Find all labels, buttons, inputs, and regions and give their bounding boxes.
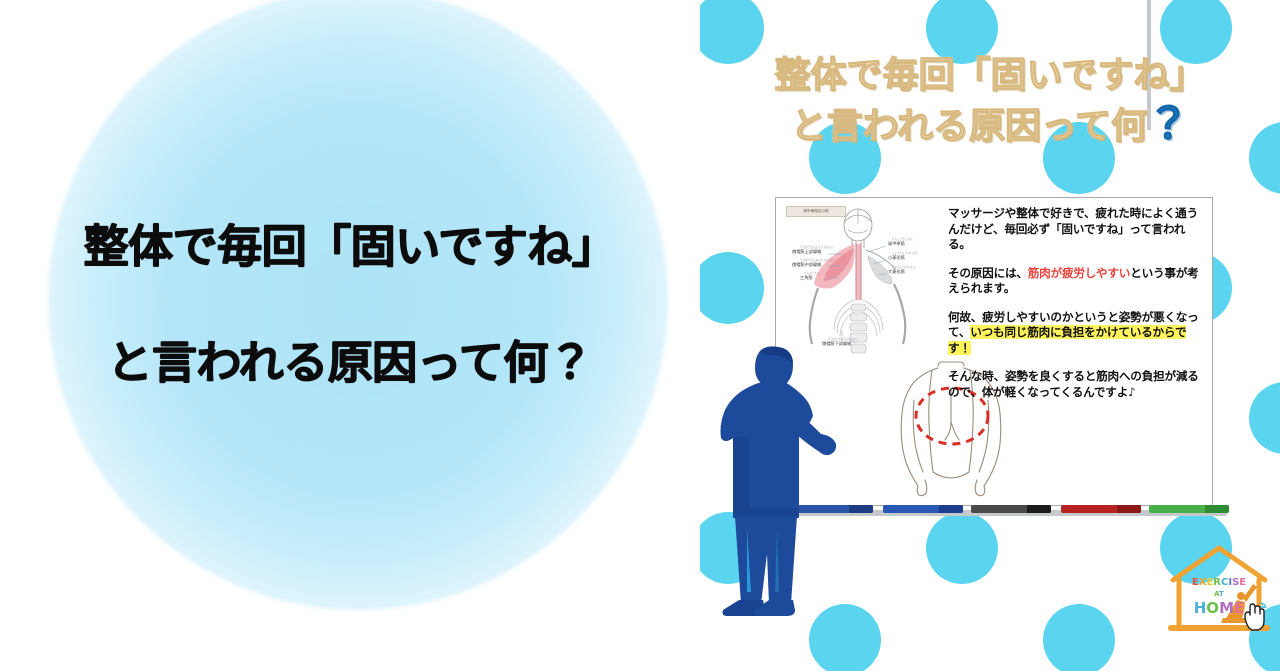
anatomy-label-0-main: 僧帽筋上部線維 (792, 249, 821, 255)
blue-marker-1-cap (849, 505, 873, 513)
left-headline-line-2: と言われる原因って何？ (0, 338, 700, 388)
wb-p2-run-2-highlight: 筋肉が疲労しやすい (1028, 266, 1130, 280)
anatomy-label-5-main: 大菱形筋 (888, 269, 905, 275)
whiteboard-paragraph-2: その原因には、筋肉が疲労しやすいという事が考えられます。 (948, 266, 1206, 297)
question-mark-glyph: ？ (1147, 99, 1189, 148)
background-dot (1249, 382, 1280, 454)
whiteboard-paragraph-1: マッサージや整体で好きで、疲れた時によく通うんだけど、毎回必ず「固いですね」って… (948, 206, 1206, 253)
red-marker (1061, 505, 1141, 513)
logo-letter-R: R (1213, 577, 1221, 588)
left-title-panel: 整体で毎回「固いですね」 と言われる原因って何？ (0, 0, 700, 671)
background-dot (700, 252, 764, 324)
anatomy-label-4-main: 小菱形筋 (888, 255, 905, 261)
right-headline-line-2: と言われる原因って何？ (700, 100, 1280, 151)
right-thumbnail-panel: 整体で毎回「固いですね」 と言われる原因って何？ 肩甲骨周辺の筋 (700, 0, 1280, 671)
background-dot (1043, 604, 1115, 671)
logo-letter-H: H (1194, 599, 1207, 617)
black-marker (971, 505, 1051, 513)
black-marker-cap (1027, 505, 1051, 513)
green-marker (1149, 505, 1229, 513)
left-headline-block: 整体で毎回「固いですね」 と言われる原因って何？ (0, 222, 700, 388)
wb-p1-run-1: マッサージや整体で好きで、疲れた時によく通うんだけど、毎回必ず「固いですね」って… (948, 206, 1198, 251)
anatomy-label-2-main: 三角筋 (800, 275, 813, 281)
green-marker-cap (1205, 505, 1229, 513)
anatomy-svg (782, 204, 934, 362)
right-headline-block: 整体で毎回「固いですね」 と言われる原因って何？ (700, 52, 1280, 151)
left-headline-line-1: 整体で毎回「固いですね」 (0, 222, 700, 272)
logo-letter-O: O (1206, 599, 1219, 617)
whiteboard-text-column: マッサージや整体で好きで、疲れた時によく通うんだけど、毎回必ず「固いですね」って… (948, 206, 1206, 413)
right-headline-line-1: 整体で毎回「固いですね」 (700, 52, 1280, 100)
pointer-hand-cursor-icon (1241, 602, 1267, 632)
whiteboard-paragraph-4: そんな時、姿勢を良くすると筋肉への負担が減るので、体が軽くなってくるんですよ♪ (948, 369, 1206, 400)
presenter-silhouette (703, 342, 838, 627)
slide-canvas: 整体で毎回「固いですね」 と言われる原因って何？ 整体で毎回「固いですね」 と言… (0, 0, 1280, 671)
wb-p4-run-1: そんな時、姿勢を良くすると筋肉への負担が減るので、体が軽くなってくるんですよ♪ (948, 369, 1199, 399)
wb-p2-run-1: その原因には、 (948, 266, 1028, 280)
whiteboard: 肩甲骨周辺の筋 (775, 197, 1213, 506)
whiteboard-paragraph-3: 何故、疲労しやすいのかというと姿勢が悪くなって、いつも同じ筋肉に負担をかけている… (948, 310, 1206, 357)
marker-tray (775, 505, 1227, 517)
wb-p3-run-2-highlight: いつも同じ筋肉に負担をかけているからです！ (948, 325, 1186, 355)
anatomy-label-3-main: 肩甲挙筋 (888, 241, 905, 247)
logo-letter-T: T (1219, 590, 1224, 598)
presenter-svg (703, 342, 838, 627)
logo-letter-E: E (1192, 577, 1199, 588)
logo-letter-E: E (1239, 577, 1246, 588)
anatomy-label-1-main: 僧帽筋中部線維 (792, 262, 821, 268)
logo-line-exercise: EXERCISE (1181, 578, 1257, 588)
blue-marker-2-cap (939, 505, 963, 513)
logo-letter-M: M (1219, 599, 1234, 617)
shoulder-anatomy-diagram: 肩甲骨周辺の筋 (782, 204, 934, 362)
logo-line-at: AT (1181, 591, 1257, 598)
right-headline-line-2-text: と言われる原因って何 (791, 106, 1147, 147)
red-marker-cap (1117, 505, 1141, 513)
anatomy-caption: 肩甲骨周辺の筋 (786, 206, 846, 217)
exercise-at-home-logo: EXERCISE AT HOME (1165, 540, 1273, 640)
background-dot (926, 512, 998, 584)
blue-marker-2 (883, 505, 963, 513)
